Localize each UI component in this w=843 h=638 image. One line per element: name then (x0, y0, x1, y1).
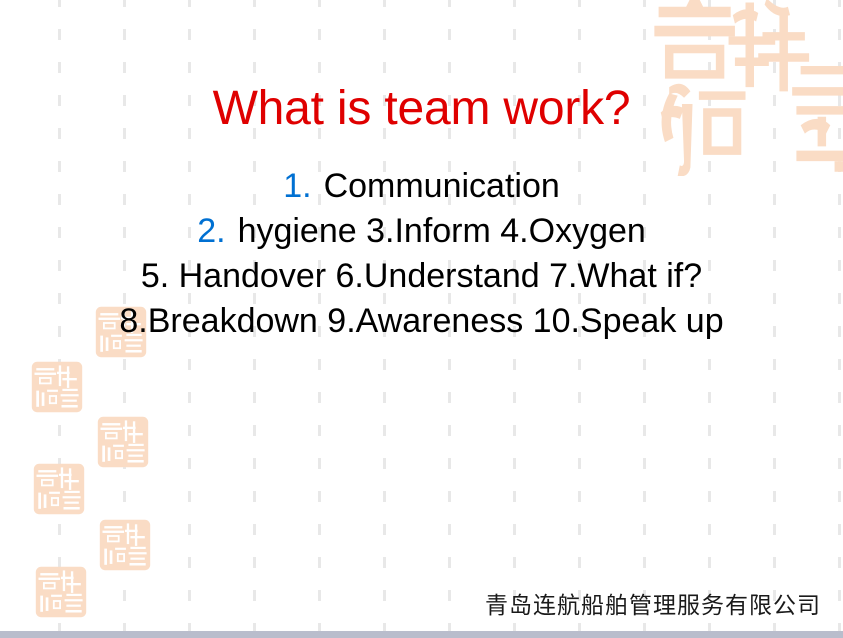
list-item-marker: 1. (283, 167, 311, 205)
list-item: 8.Breakdown 9.Awareness 10.Speak up (0, 299, 843, 344)
presentation-slide: What is team work? 1.Communication 2.hyg… (0, 0, 843, 638)
page-title: What is team work? (0, 82, 843, 136)
list-item-label: hygiene 3.Inform 4.Oxygen (238, 212, 646, 250)
list-item-label: 5. Handover 6.Understand 7.What if? (141, 257, 702, 295)
slide-content: What is team work? 1.Communication 2.hyg… (0, 0, 843, 638)
numbered-list: 1.Communication 2.hygiene 3.Inform 4.Oxy… (0, 164, 843, 344)
company-footer: 青岛连航船舶管理服务有限公司 (485, 592, 821, 620)
list-item-marker: 2. (197, 212, 225, 250)
window-bottom-bar (0, 631, 843, 638)
list-item-label: 8.Breakdown 9.Awareness 10.Speak up (119, 302, 723, 340)
list-item: 2.hygiene 3.Inform 4.Oxygen (0, 209, 843, 254)
list-item: 1.Communication (0, 164, 843, 209)
list-item: 5. Handover 6.Understand 7.What if? (0, 254, 843, 299)
list-item-label: Communication (324, 167, 560, 205)
